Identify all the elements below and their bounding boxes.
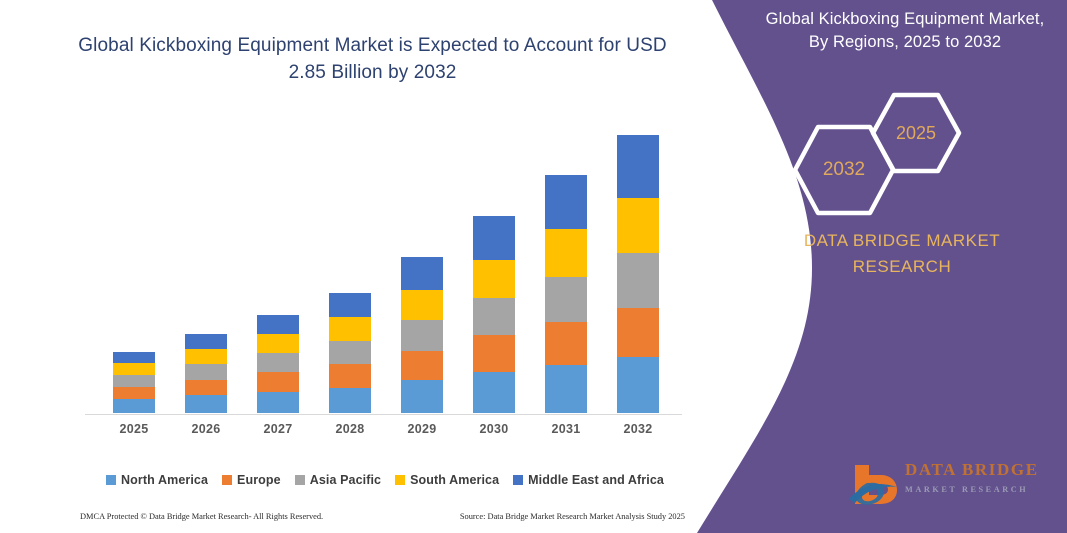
- bar-segment-middle-east-and-africa[interactable]: [113, 352, 155, 364]
- bar-segment-middle-east-and-africa[interactable]: [329, 293, 371, 317]
- hexagon-start-year: 2025: [870, 92, 962, 174]
- bar-segment-south-america[interactable]: [617, 198, 659, 254]
- legend-swatch-icon: [222, 475, 232, 485]
- bar-segment-middle-east-and-africa[interactable]: [545, 175, 587, 229]
- bar-segment-europe[interactable]: [185, 380, 227, 396]
- bar-segment-asia-pacific[interactable]: [401, 320, 443, 350]
- bar-segment-north-america[interactable]: [401, 380, 443, 413]
- bar-segment-europe[interactable]: [545, 322, 587, 365]
- legend-label: Asia Pacific: [310, 473, 381, 487]
- x-axis-label-2025: 2025: [104, 422, 164, 436]
- bar-segment-middle-east-and-africa[interactable]: [401, 257, 443, 290]
- brand-name-line2: RESEARCH: [752, 254, 1052, 280]
- bar-segment-middle-east-and-africa[interactable]: [257, 315, 299, 335]
- legend-swatch-icon: [395, 475, 405, 485]
- legend-label: South America: [410, 473, 499, 487]
- bar-2030[interactable]: [473, 216, 515, 413]
- x-axis-label-2028: 2028: [320, 422, 380, 436]
- bar-segment-north-america[interactable]: [257, 392, 299, 413]
- bar-segment-south-america[interactable]: [113, 363, 155, 375]
- bar-segment-south-america[interactable]: [185, 349, 227, 365]
- bar-segment-north-america[interactable]: [113, 399, 155, 413]
- legend-label: North America: [121, 473, 208, 487]
- footer-source: Source: Data Bridge Market Research Mark…: [460, 512, 685, 521]
- x-axis-label-2029: 2029: [392, 422, 452, 436]
- bar-segment-south-america[interactable]: [545, 229, 587, 277]
- bar-segment-europe[interactable]: [617, 308, 659, 358]
- bar-segment-north-america[interactable]: [545, 365, 587, 413]
- logo-wordmark: DATA BRIDGE MARKET RESEARCH: [905, 461, 1065, 494]
- bar-segment-europe[interactable]: [329, 364, 371, 387]
- legend-item-south-america[interactable]: South America: [395, 473, 499, 487]
- bar-segment-south-america[interactable]: [257, 334, 299, 353]
- bar-segment-south-america[interactable]: [401, 290, 443, 320]
- bar-2026[interactable]: [185, 334, 227, 413]
- bar-2027[interactable]: [257, 315, 299, 413]
- x-axis-labels: 20252026202720282029203020312032: [85, 422, 685, 444]
- bar-segment-asia-pacific[interactable]: [545, 277, 587, 323]
- bar-segment-north-america[interactable]: [473, 372, 515, 413]
- panel-title: Global Kickboxing Equipment Market, By R…: [755, 8, 1055, 55]
- bar-segment-europe[interactable]: [473, 335, 515, 372]
- footer: DMCA Protected © Data Bridge Market Rese…: [80, 508, 685, 524]
- bar-segment-asia-pacific[interactable]: [257, 353, 299, 373]
- bar-group: [85, 110, 685, 413]
- bar-2032[interactable]: [617, 135, 659, 413]
- chart-title: Global Kickboxing Equipment Market is Ex…: [60, 33, 685, 87]
- brand-name-line1: DATA BRIDGE MARKET: [752, 228, 1052, 254]
- bar-segment-europe[interactable]: [257, 372, 299, 392]
- logo-wordmark-line2: MARKET RESEARCH: [905, 485, 1065, 494]
- x-axis-line: [85, 414, 682, 415]
- bar-segment-asia-pacific[interactable]: [329, 341, 371, 364]
- bar-segment-north-america[interactable]: [329, 388, 371, 413]
- hexagon-end-year-label: 2032: [823, 159, 865, 181]
- bar-segment-asia-pacific[interactable]: [617, 253, 659, 308]
- chart-plot-area: [85, 110, 685, 415]
- footer-copyright: DMCA Protected © Data Bridge Market Rese…: [80, 512, 323, 521]
- bar-segment-north-america[interactable]: [185, 395, 227, 413]
- chart-legend: North AmericaEuropeAsia PacificSouth Ame…: [85, 470, 685, 490]
- bar-segment-asia-pacific[interactable]: [473, 298, 515, 335]
- brand-name: DATA BRIDGE MARKET RESEARCH: [752, 228, 1052, 281]
- data-bridge-logo-icon: [847, 457, 903, 507]
- bar-segment-europe[interactable]: [401, 351, 443, 380]
- infographic-root: Global Kickboxing Equipment Market, By R…: [0, 0, 1067, 533]
- x-axis-label-2030: 2030: [464, 422, 524, 436]
- bar-segment-middle-east-and-africa[interactable]: [473, 216, 515, 260]
- bar-segment-south-america[interactable]: [329, 317, 371, 340]
- bar-segment-north-america[interactable]: [617, 357, 659, 413]
- bar-segment-middle-east-and-africa[interactable]: [617, 135, 659, 197]
- bar-2028[interactable]: [329, 293, 371, 413]
- company-logo: DATA BRIDGE MARKET RESEARCH: [847, 455, 1062, 511]
- bar-2025[interactable]: [113, 352, 155, 413]
- hexagon-group: 2032 2025: [737, 92, 1067, 202]
- legend-swatch-icon: [106, 475, 116, 485]
- bar-segment-middle-east-and-africa[interactable]: [185, 334, 227, 349]
- x-axis-label-2026: 2026: [176, 422, 236, 436]
- panel-content: Global Kickboxing Equipment Market, By R…: [737, 0, 1067, 533]
- bar-segment-asia-pacific[interactable]: [113, 375, 155, 387]
- bar-2031[interactable]: [545, 175, 587, 413]
- legend-item-asia-pacific[interactable]: Asia Pacific: [295, 473, 381, 487]
- bar-segment-europe[interactable]: [113, 387, 155, 400]
- bar-2029[interactable]: [401, 257, 443, 413]
- legend-item-europe[interactable]: Europe: [222, 473, 281, 487]
- logo-wordmark-line1: DATA BRIDGE: [905, 461, 1065, 480]
- legend-label: Middle East and Africa: [528, 473, 664, 487]
- bar-segment-south-america[interactable]: [473, 260, 515, 298]
- x-axis-label-2031: 2031: [536, 422, 596, 436]
- x-axis-label-2032: 2032: [608, 422, 668, 436]
- x-axis-label-2027: 2027: [248, 422, 308, 436]
- hexagon-start-year-label: 2025: [896, 123, 936, 144]
- legend-swatch-icon: [513, 475, 523, 485]
- legend-item-north-america[interactable]: North America: [106, 473, 208, 487]
- legend-item-middle-east-and-africa[interactable]: Middle East and Africa: [513, 473, 664, 487]
- legend-swatch-icon: [295, 475, 305, 485]
- legend-label: Europe: [237, 473, 281, 487]
- bar-segment-asia-pacific[interactable]: [185, 364, 227, 380]
